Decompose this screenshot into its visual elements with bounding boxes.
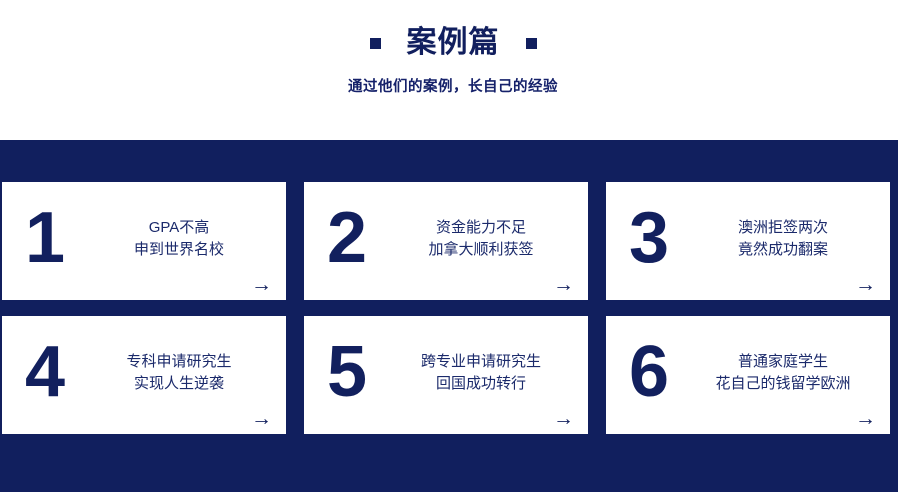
page-subtitle: 通过他们的案例，长自己的经验 <box>348 75 558 96</box>
card-number: 4 <box>2 336 86 414</box>
card-number: 3 <box>606 202 690 280</box>
arrow-right-icon[interactable]: → <box>251 274 272 295</box>
arrow-right-icon[interactable]: → <box>553 274 574 295</box>
page-title: 案例篇 <box>407 28 500 58</box>
square-bullet-left-icon <box>370 38 381 49</box>
card-text-line2: 花自己的钱留学欧洲 <box>690 373 876 396</box>
right-white-strip <box>898 140 906 492</box>
card-text-line2: 回国成功转行 <box>388 373 574 396</box>
card-number: 2 <box>304 202 388 280</box>
case-cards-grid: 1 GPA不高 申到世界名校 → 2 资金能力不足 加拿大顺利获签 → 3 澳洲… <box>2 182 890 434</box>
case-card-3[interactable]: 3 澳洲拒签两次 竟然成功翻案 → <box>606 182 890 300</box>
card-text-line1: 资金能力不足 <box>388 217 574 240</box>
square-bullet-right-icon <box>526 38 537 49</box>
case-card-4[interactable]: 4 专科申请研究生 实现人生逆袭 → <box>2 316 286 434</box>
card-text: GPA不高 申到世界名校 <box>86 217 286 266</box>
arrow-right-icon[interactable]: → <box>553 408 574 429</box>
card-text: 专科申请研究生 实现人生逆袭 <box>86 351 286 400</box>
card-text-line2: 竟然成功翻案 <box>690 239 876 262</box>
card-text-line1: GPA不高 <box>86 217 272 240</box>
case-card-5[interactable]: 5 跨专业申请研究生 回国成功转行 → <box>304 316 588 434</box>
card-text-line2: 申到世界名校 <box>86 239 272 262</box>
card-text-line1: 专科申请研究生 <box>86 351 272 374</box>
card-text: 跨专业申请研究生 回国成功转行 <box>388 351 588 400</box>
card-text: 澳洲拒签两次 竟然成功翻案 <box>690 217 890 266</box>
title-row: 案例篇 <box>370 28 537 58</box>
case-card-6[interactable]: 6 普通家庭学生 花自己的钱留学欧洲 → <box>606 316 890 434</box>
card-text-line1: 普通家庭学生 <box>690 351 876 374</box>
arrow-right-icon[interactable]: → <box>855 408 876 429</box>
arrow-right-icon[interactable]: → <box>855 274 876 295</box>
arrow-right-icon[interactable]: → <box>251 408 272 429</box>
card-number: 1 <box>2 202 86 280</box>
card-text-line2: 实现人生逆袭 <box>86 373 272 396</box>
card-text-line1: 跨专业申请研究生 <box>388 351 574 374</box>
case-card-2[interactable]: 2 资金能力不足 加拿大顺利获签 → <box>304 182 588 300</box>
card-number: 6 <box>606 336 690 414</box>
slide-root: 案例篇 通过他们的案例，长自己的经验 1 GPA不高 申到世界名校 → 2 资金… <box>0 0 906 492</box>
card-text-line2: 加拿大顺利获签 <box>388 239 574 262</box>
case-card-1[interactable]: 1 GPA不高 申到世界名校 → <box>2 182 286 300</box>
card-text-line1: 澳洲拒签两次 <box>690 217 876 240</box>
card-text: 普通家庭学生 花自己的钱留学欧洲 <box>690 351 890 400</box>
card-text: 资金能力不足 加拿大顺利获签 <box>388 217 588 266</box>
card-number: 5 <box>304 336 388 414</box>
slide-header: 案例篇 通过他们的案例，长自己的经验 <box>0 0 906 140</box>
